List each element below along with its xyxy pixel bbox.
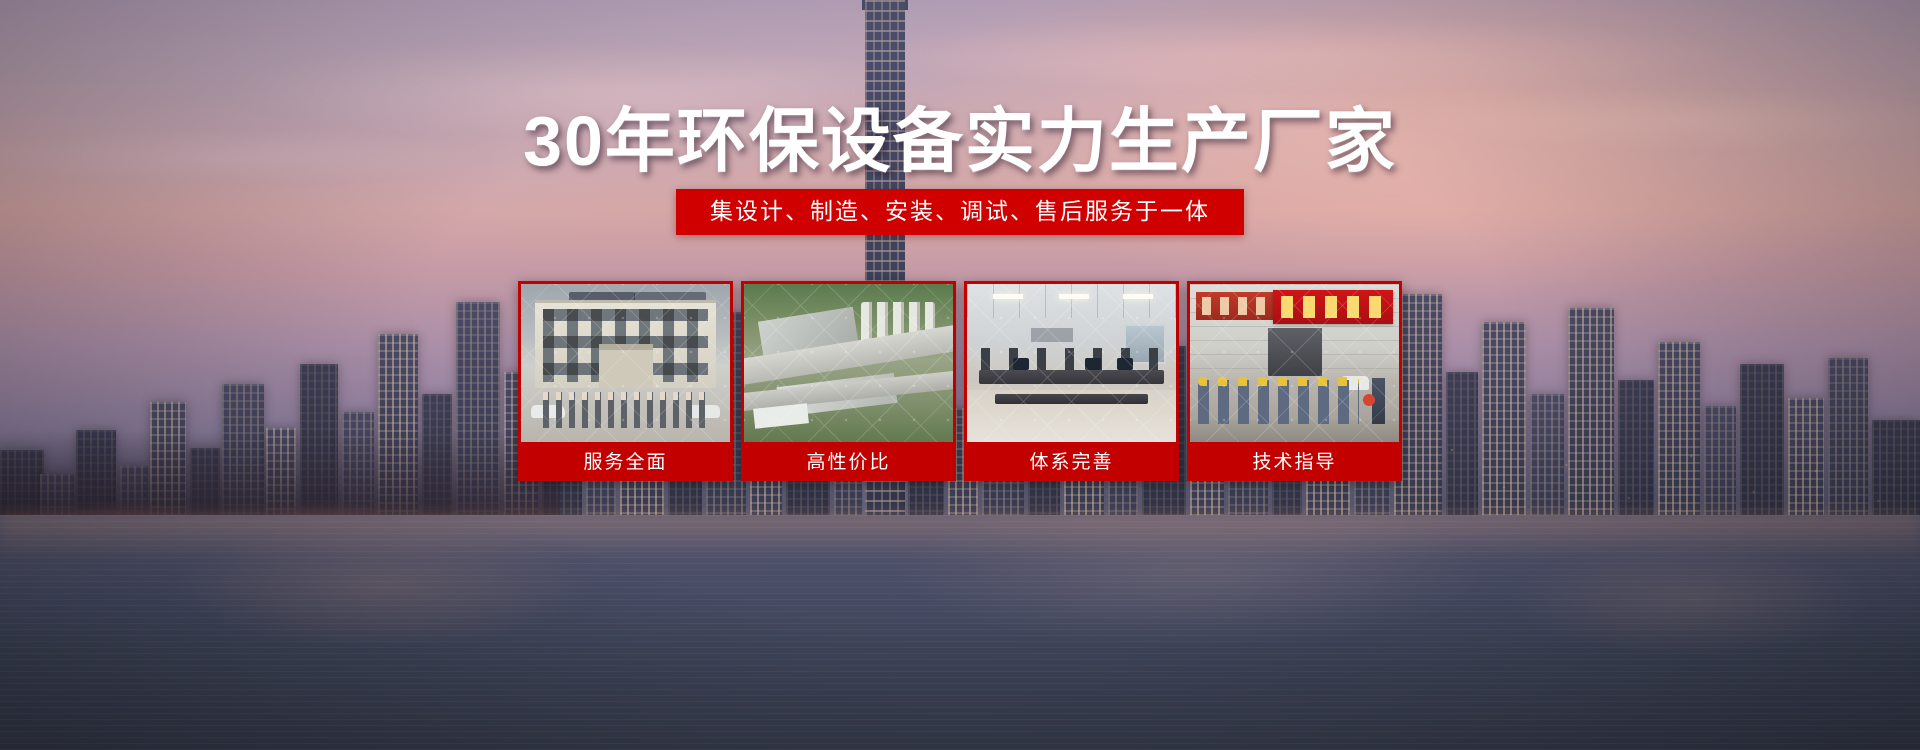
office-workspace-team-photo xyxy=(967,284,1176,442)
banner-subtitle-text: 集设计、制造、安装、调试、售后服务于一体 xyxy=(710,198,1210,224)
hero-banner: 30年环保设备实力生产厂家 集设计、制造、安装、调试、售后服务于一体 服务全面 xyxy=(0,0,1920,750)
feature-card-caption: 体系完善 xyxy=(967,442,1176,478)
banner-content: 30年环保设备实力生产厂家 集设计、制造、安装、调试、售后服务于一体 服务全面 xyxy=(0,0,1920,750)
watermark-dots xyxy=(1190,284,1399,442)
feature-card[interactable]: 体系完善 xyxy=(964,281,1179,481)
feature-card-caption: 高性价比 xyxy=(744,442,953,478)
company-headquarters-staff-photo xyxy=(521,284,730,442)
feature-card-caption: 服务全面 xyxy=(521,442,730,478)
workshop-engineers-training-photo xyxy=(1190,284,1399,442)
feature-card[interactable]: 高性价比 xyxy=(741,281,956,481)
feature-card-caption: 技术指导 xyxy=(1190,442,1399,478)
banner-subtitle-bar: 集设计、制造、安装、调试、售后服务于一体 xyxy=(676,189,1244,235)
aerial-factory-plant-photo xyxy=(744,284,953,442)
watermark-dots xyxy=(967,284,1176,442)
banner-headline: 30年环保设备实力生产厂家 xyxy=(0,106,1920,176)
feature-card[interactable]: 服务全面 xyxy=(518,281,733,481)
watermark-dots xyxy=(744,284,953,442)
feature-card[interactable]: 技术指导 xyxy=(1187,281,1402,481)
watermark-dots xyxy=(521,284,730,442)
feature-card-list: 服务全面 高性价比 xyxy=(518,281,1402,481)
